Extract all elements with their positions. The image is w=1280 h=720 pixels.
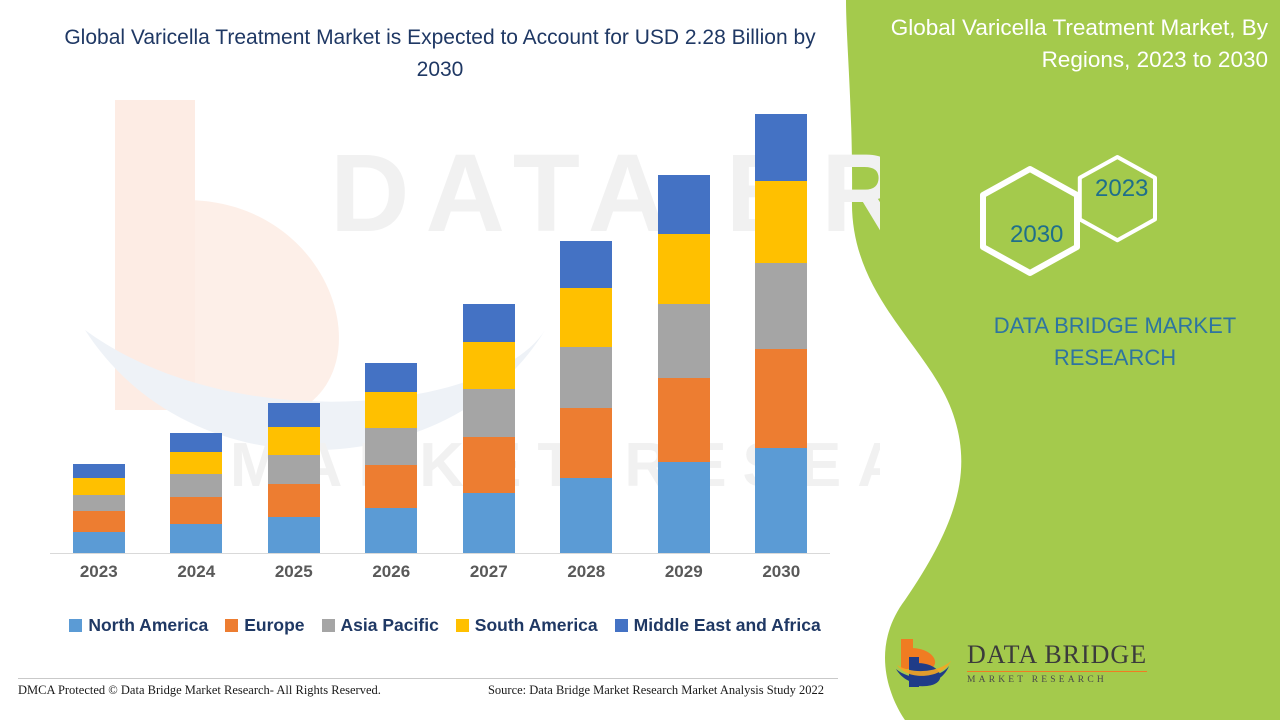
legend-item[interactable]: Asia Pacific: [322, 615, 439, 636]
legend-item[interactable]: North America: [69, 615, 208, 636]
bar-segment[interactable]: [268, 403, 320, 427]
stacked-bar[interactable]: [365, 363, 417, 553]
bar-segment[interactable]: [463, 342, 515, 388]
legend-item[interactable]: Europe: [225, 615, 304, 636]
chart-legend: North AmericaEuropeAsia PacificSouth Ame…: [50, 615, 840, 636]
bar-segment[interactable]: [365, 465, 417, 508]
legend-swatch-icon: [69, 619, 82, 632]
x-axis-label-2025: 2025: [246, 562, 342, 592]
footer-source: Source: Data Bridge Market Research Mark…: [488, 683, 838, 698]
bar-segment[interactable]: [463, 389, 515, 438]
bar-column-2029: [636, 100, 732, 553]
bar-segment[interactable]: [73, 478, 125, 495]
bar-segment[interactable]: [365, 508, 417, 553]
x-axis-label-2024: 2024: [148, 562, 244, 592]
bar-segment[interactable]: [170, 433, 222, 452]
bar-segment[interactable]: [755, 114, 807, 181]
hexagon-group: 2023 2030: [975, 145, 1185, 285]
bar-segment[interactable]: [73, 464, 125, 478]
stacked-bar[interactable]: [755, 114, 807, 553]
stacked-bar[interactable]: [170, 433, 222, 553]
data-bridge-logo: DATA BRIDGE MARKET RESEARCH: [895, 635, 1147, 693]
legend-label: South America: [475, 615, 598, 636]
bar-segment[interactable]: [365, 392, 417, 428]
bar-segment[interactable]: [658, 234, 710, 304]
x-axis-label-2030: 2030: [733, 562, 829, 592]
bar-column-2023: [51, 100, 147, 553]
bar-segment[interactable]: [73, 532, 125, 553]
chart-axis-baseline: [50, 553, 830, 554]
legend-item[interactable]: Middle East and Africa: [615, 615, 821, 636]
bar-segment[interactable]: [73, 495, 125, 512]
bar-segment[interactable]: [268, 427, 320, 456]
bar-segment[interactable]: [755, 448, 807, 553]
legend-label: Middle East and Africa: [634, 615, 821, 636]
infographic-root: DATA BRIDGE MARKET RESEARCH Global Varic…: [0, 0, 1280, 720]
panel-brand-name: DATA BRIDGE MARKET RESEARCH: [960, 310, 1270, 374]
bar-column-2024: [148, 100, 244, 553]
bar-segment[interactable]: [658, 175, 710, 233]
footer: DMCA Protected © Data Bridge Market Rese…: [18, 683, 838, 698]
legend-swatch-icon: [456, 619, 469, 632]
bar-segment[interactable]: [268, 455, 320, 484]
legend-swatch-icon: [225, 619, 238, 632]
bar-segment[interactable]: [755, 181, 807, 263]
x-axis-label-2028: 2028: [538, 562, 634, 592]
logo-mark-icon: [895, 635, 957, 693]
bar-segment[interactable]: [560, 478, 612, 553]
logo-b-icon: [895, 635, 957, 693]
bar-column-2026: [343, 100, 439, 553]
chart-x-axis-labels: 20232024202520262027202820292030: [50, 562, 830, 592]
bar-segment[interactable]: [560, 241, 612, 289]
legend-label: Europe: [244, 615, 304, 636]
bar-column-2027: [441, 100, 537, 553]
bar-column-2025: [246, 100, 342, 553]
bar-segment[interactable]: [170, 524, 222, 553]
x-axis-label-2029: 2029: [636, 562, 732, 592]
logo-divider: [967, 671, 1147, 672]
bar-column-2030: [733, 100, 829, 553]
footer-copyright: DMCA Protected © Data Bridge Market Rese…: [18, 683, 381, 698]
stacked-bar[interactable]: [73, 464, 125, 553]
bar-segment[interactable]: [463, 437, 515, 493]
legend-item[interactable]: South America: [456, 615, 598, 636]
bar-segment[interactable]: [560, 347, 612, 408]
chart-title: Global Varicella Treatment Market is Exp…: [60, 22, 820, 86]
stacked-bar[interactable]: [268, 403, 320, 553]
logo-line-1: DATA BRIDGE: [967, 642, 1147, 668]
bar-segment[interactable]: [268, 484, 320, 517]
hexagon-label-first: 2023: [1095, 175, 1148, 203]
footer-divider: [18, 678, 838, 679]
bar-segment[interactable]: [463, 493, 515, 553]
bar-column-2028: [538, 100, 634, 553]
x-axis-label-2023: 2023: [51, 562, 147, 592]
bar-segment[interactable]: [170, 474, 222, 497]
bar-segment[interactable]: [755, 263, 807, 349]
bar-segment[interactable]: [560, 288, 612, 346]
bar-segment[interactable]: [365, 363, 417, 392]
bar-segment[interactable]: [170, 452, 222, 475]
legend-label: North America: [88, 615, 208, 636]
hexagon-label-second: 2030: [1010, 221, 1063, 249]
logo-line-2: MARKET RESEARCH: [967, 676, 1147, 686]
bar-segment[interactable]: [73, 511, 125, 531]
bar-segment[interactable]: [463, 304, 515, 342]
x-axis-label-2026: 2026: [343, 562, 439, 592]
chart-bars: [50, 100, 830, 553]
logo-text: DATA BRIDGE MARKET RESEARCH: [967, 642, 1147, 686]
bar-segment[interactable]: [268, 517, 320, 553]
bar-segment[interactable]: [170, 497, 222, 524]
x-axis-label-2027: 2027: [441, 562, 537, 592]
stacked-bar[interactable]: [658, 175, 710, 553]
bar-segment[interactable]: [755, 349, 807, 448]
legend-swatch-icon: [322, 619, 335, 632]
bar-segment[interactable]: [658, 378, 710, 463]
stacked-bar[interactable]: [463, 304, 515, 553]
panel-title: Global Varicella Treatment Market, By Re…: [848, 12, 1268, 76]
stacked-bar[interactable]: [560, 241, 612, 553]
bar-segment[interactable]: [658, 462, 710, 553]
legend-swatch-icon: [615, 619, 628, 632]
bar-segment[interactable]: [658, 304, 710, 378]
legend-label: Asia Pacific: [341, 615, 439, 636]
hexagons-icon: [975, 145, 1185, 285]
bar-segment[interactable]: [365, 428, 417, 465]
bar-segment[interactable]: [560, 408, 612, 478]
